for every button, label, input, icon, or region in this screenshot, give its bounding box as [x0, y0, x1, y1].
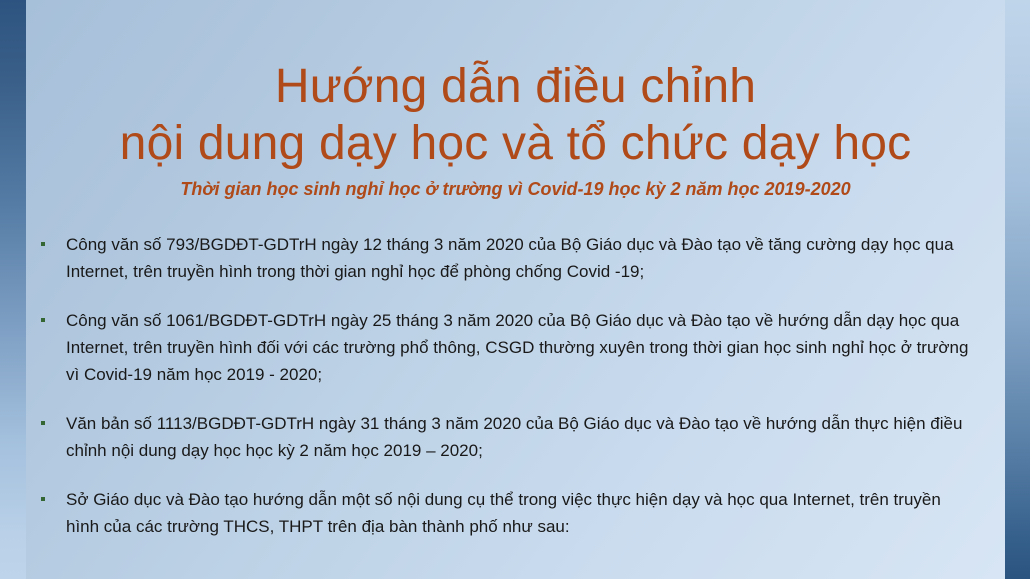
bullet-text: Công văn số 1061/BGDĐT-GDTrH ngày 25 thá… — [66, 307, 988, 388]
slide-title-line-1: Hướng dẫn điều chỉnh — [26, 58, 1005, 115]
bullet-dot-icon — [41, 497, 45, 501]
bullet-dot-icon — [41, 421, 45, 425]
bullet-item: Công văn số 1061/BGDĐT-GDTrH ngày 25 thá… — [36, 307, 988, 388]
right-decorative-bar — [1005, 0, 1030, 579]
bullet-item: Công văn số 793/BGDĐT-GDTrH ngày 12 thán… — [36, 231, 988, 285]
presentation-slide: Hướng dẫn điều chỉnh nội dung dạy học và… — [0, 0, 1030, 579]
bullet-marker — [36, 410, 66, 425]
slide-subtitle: Thời gian học sinh nghỉ học ở trường vì … — [26, 178, 1005, 200]
bullet-dot-icon — [41, 318, 45, 322]
bullet-text: Công văn số 793/BGDĐT-GDTrH ngày 12 thán… — [66, 231, 988, 285]
left-decorative-bar — [0, 0, 26, 579]
slide-body-content: Công văn số 793/BGDĐT-GDTrH ngày 12 thán… — [36, 231, 988, 562]
bullet-marker — [36, 307, 66, 322]
bullet-text: Sở Giáo dục và Đào tạo hướng dẫn một số … — [66, 486, 988, 540]
bullet-marker — [36, 486, 66, 501]
bullet-item: Văn bản số 1113/BGDĐT-GDTrH ngày 31 thán… — [36, 410, 988, 464]
bullet-text: Văn bản số 1113/BGDĐT-GDTrH ngày 31 thán… — [66, 410, 988, 464]
bullet-dot-icon — [41, 242, 45, 246]
slide-title-line-2: nội dung dạy học và tổ chức dạy học — [26, 115, 1005, 172]
slide-title-block: Hướng dẫn điều chỉnh nội dung dạy học và… — [26, 58, 1005, 200]
bullet-item: Sở Giáo dục và Đào tạo hướng dẫn một số … — [36, 486, 988, 540]
bullet-marker — [36, 231, 66, 246]
